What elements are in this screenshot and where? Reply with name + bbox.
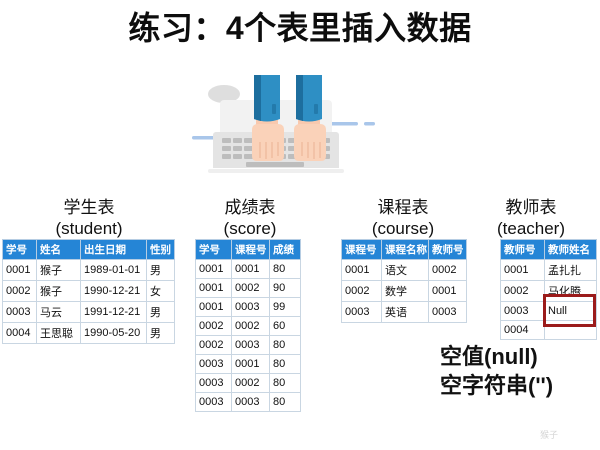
table-cell: 语文 xyxy=(382,260,429,281)
table-cell: 0001 xyxy=(429,281,467,302)
table-cell: 80 xyxy=(270,336,301,355)
table-row: 0002 0003 80 xyxy=(196,336,301,355)
watermark: 猴子 xyxy=(540,428,558,441)
table-cell: 0003 xyxy=(196,374,232,393)
column-header: 学号 xyxy=(196,240,232,260)
column-header: 成绩 xyxy=(270,240,301,260)
table-cell: 0003 xyxy=(501,302,545,321)
table-cell: 80 xyxy=(270,393,301,412)
table-row: 0003 英语 0003 xyxy=(342,302,467,323)
table-row: 0001 语文 0002 xyxy=(342,260,467,281)
table-cell: 0002 xyxy=(429,260,467,281)
table-cell: 0003 xyxy=(3,302,37,323)
course-table-block: 课程表 (course) 课程号 课程名称 教师号 0001 语文 0002 0… xyxy=(333,197,473,323)
table-cell: 0002 xyxy=(501,281,545,302)
table-row: 0003 0001 80 xyxy=(196,355,301,374)
table-cell: 男 xyxy=(147,323,175,344)
table-cell: 0002 xyxy=(3,281,37,302)
right-sleeve-shade xyxy=(296,75,303,121)
table-cell: 马云 xyxy=(37,302,81,323)
table-cell: 0001 xyxy=(232,260,270,279)
course-table-caption: 课程表 (course) xyxy=(333,197,473,239)
score-table-block: 成绩表 (score) 学号 课程号 成绩 0001 0001 80 0001 … xyxy=(185,197,315,412)
column-header: 课程名称 xyxy=(382,240,429,260)
table-row: 0002 马化腾 xyxy=(501,281,597,302)
student-table-caption-en: (student) xyxy=(0,218,178,239)
table-cell: 0002 xyxy=(232,374,270,393)
right-hand xyxy=(294,124,326,161)
table-cell: 1990-05-20 xyxy=(81,323,147,344)
table-cell: 0002 xyxy=(196,336,232,355)
decorative-dash-right-2 xyxy=(364,122,375,126)
table-cell: 0004 xyxy=(3,323,37,344)
table-cell: 99 xyxy=(270,298,301,317)
laptop-shadow xyxy=(208,169,344,173)
table-row: 0001 猴子 1989-01-01 男 xyxy=(3,260,175,281)
student-table-caption-cn: 学生表 xyxy=(0,197,178,218)
left-sleeve-shade xyxy=(254,75,261,121)
hands-typing-on-laptop-illustration xyxy=(180,68,425,178)
left-cuff-detail xyxy=(272,104,276,114)
table-cell: 0001 xyxy=(196,298,232,317)
table-cell: 60 xyxy=(270,317,301,336)
table-cell: 0001 xyxy=(342,260,382,281)
table-cell: 王思聪 xyxy=(37,323,81,344)
table-row: 0003 Null xyxy=(501,302,597,321)
table-cell: 90 xyxy=(270,279,301,298)
table-cell: 男 xyxy=(147,302,175,323)
teacher-table-caption-en: (teacher) xyxy=(462,218,600,239)
table-cell: 猴子 xyxy=(37,260,81,281)
column-header: 课程号 xyxy=(342,240,382,260)
score-table-caption-cn: 成绩表 xyxy=(185,197,315,218)
table-cell: 女 xyxy=(147,281,175,302)
teacher-table: 教师号 教师姓名 0001 孟扎扎 0002 马化腾 0003 Null 000… xyxy=(500,239,597,340)
table-header-row: 课程号 课程名称 教师号 xyxy=(342,240,467,260)
table-row: 0001 孟扎扎 xyxy=(501,260,597,281)
table-cell: 0001 xyxy=(3,260,37,281)
column-header: 出生日期 xyxy=(81,240,147,260)
student-table: 学号 姓名 出生日期 性别 0001 猴子 1989-01-01 男 0002 … xyxy=(2,239,175,344)
table-row: 0001 0003 99 xyxy=(196,298,301,317)
table-cell: 0001 xyxy=(196,279,232,298)
score-table: 学号 课程号 成绩 0001 0001 80 0001 0002 90 0001… xyxy=(195,239,301,412)
table-cell: 0002 xyxy=(196,317,232,336)
null-value-cell: Null xyxy=(545,302,597,321)
null-note-line-2: 空字符串('') xyxy=(440,371,600,400)
table-header-row: 学号 姓名 出生日期 性别 xyxy=(3,240,175,260)
table-cell: 0001 xyxy=(501,260,545,281)
course-table: 课程号 课程名称 教师号 0001 语文 0002 0002 数学 0001 0… xyxy=(341,239,467,323)
table-cell: 0004 xyxy=(501,321,545,340)
column-header: 姓名 xyxy=(37,240,81,260)
null-notes: 空值(null) 空字符串('') xyxy=(440,342,600,400)
table-cell: 猴子 xyxy=(37,281,81,302)
teacher-table-block: 教师表 (teacher) 教师号 教师姓名 0001 孟扎扎 0002 马化腾… xyxy=(462,197,600,340)
right-cuff-detail xyxy=(314,104,318,114)
table-row: 0003 马云 1991-12-21 男 xyxy=(3,302,175,323)
table-cell: 1989-01-01 xyxy=(81,260,147,281)
table-cell: 0003 xyxy=(232,336,270,355)
table-row: 0004 xyxy=(501,321,597,340)
table-cell: 0003 xyxy=(232,298,270,317)
null-note-line-1: 空值(null) xyxy=(440,342,600,371)
table-header-row: 教师号 教师姓名 xyxy=(501,240,597,260)
table-row: 0004 王思聪 1990-05-20 男 xyxy=(3,323,175,344)
table-cell: 0002 xyxy=(232,279,270,298)
table-cell: 0002 xyxy=(342,281,382,302)
table-cell: 英语 xyxy=(382,302,429,323)
teacher-table-caption: 教师表 (teacher) xyxy=(462,197,600,239)
table-header-row: 学号 课程号 成绩 xyxy=(196,240,301,260)
table-cell: 男 xyxy=(147,260,175,281)
column-header: 性别 xyxy=(147,240,175,260)
table-cell: 1990-12-21 xyxy=(81,281,147,302)
table-row: 0003 0003 80 xyxy=(196,393,301,412)
table-cell: 0002 xyxy=(232,317,270,336)
table-row: 0003 0002 80 xyxy=(196,374,301,393)
column-header: 教师姓名 xyxy=(545,240,597,260)
score-table-caption-en: (score) xyxy=(185,218,315,239)
teacher-table-caption-cn: 教师表 xyxy=(462,197,600,218)
table-cell: 0003 xyxy=(196,393,232,412)
table-row: 0001 0001 80 xyxy=(196,260,301,279)
course-table-caption-cn: 课程表 xyxy=(333,197,473,218)
table-cell: 马化腾 xyxy=(545,281,597,302)
empty-string-cell xyxy=(545,321,597,340)
table-cell: 80 xyxy=(270,355,301,374)
course-table-caption-en: (course) xyxy=(333,218,473,239)
table-row: 0002 0002 60 xyxy=(196,317,301,336)
table-cell: 0003 xyxy=(429,302,467,323)
page-title: 练习：4个表里插入数据 xyxy=(0,6,600,50)
table-row: 0001 0002 90 xyxy=(196,279,301,298)
table-cell: 1991-12-21 xyxy=(81,302,147,323)
column-header: 课程号 xyxy=(232,240,270,260)
left-hand xyxy=(252,124,284,161)
score-table-caption: 成绩表 (score) xyxy=(185,197,315,239)
table-row: 0002 猴子 1990-12-21 女 xyxy=(3,281,175,302)
column-header: 教师号 xyxy=(429,240,467,260)
column-header: 学号 xyxy=(3,240,37,260)
table-cell: 孟扎扎 xyxy=(545,260,597,281)
table-cell: 0003 xyxy=(196,355,232,374)
student-table-caption: 学生表 (student) xyxy=(0,197,178,239)
table-cell: 0001 xyxy=(232,355,270,374)
student-table-block: 学生表 (student) 学号 姓名 出生日期 性别 0001 猴子 1989… xyxy=(0,197,178,344)
table-cell: 0003 xyxy=(232,393,270,412)
table-cell: 0001 xyxy=(196,260,232,279)
table-cell: 0003 xyxy=(342,302,382,323)
table-cell: 数学 xyxy=(382,281,429,302)
table-cell: 80 xyxy=(270,260,301,279)
table-cell: 80 xyxy=(270,374,301,393)
column-header: 教师号 xyxy=(501,240,545,260)
table-row: 0002 数学 0001 xyxy=(342,281,467,302)
